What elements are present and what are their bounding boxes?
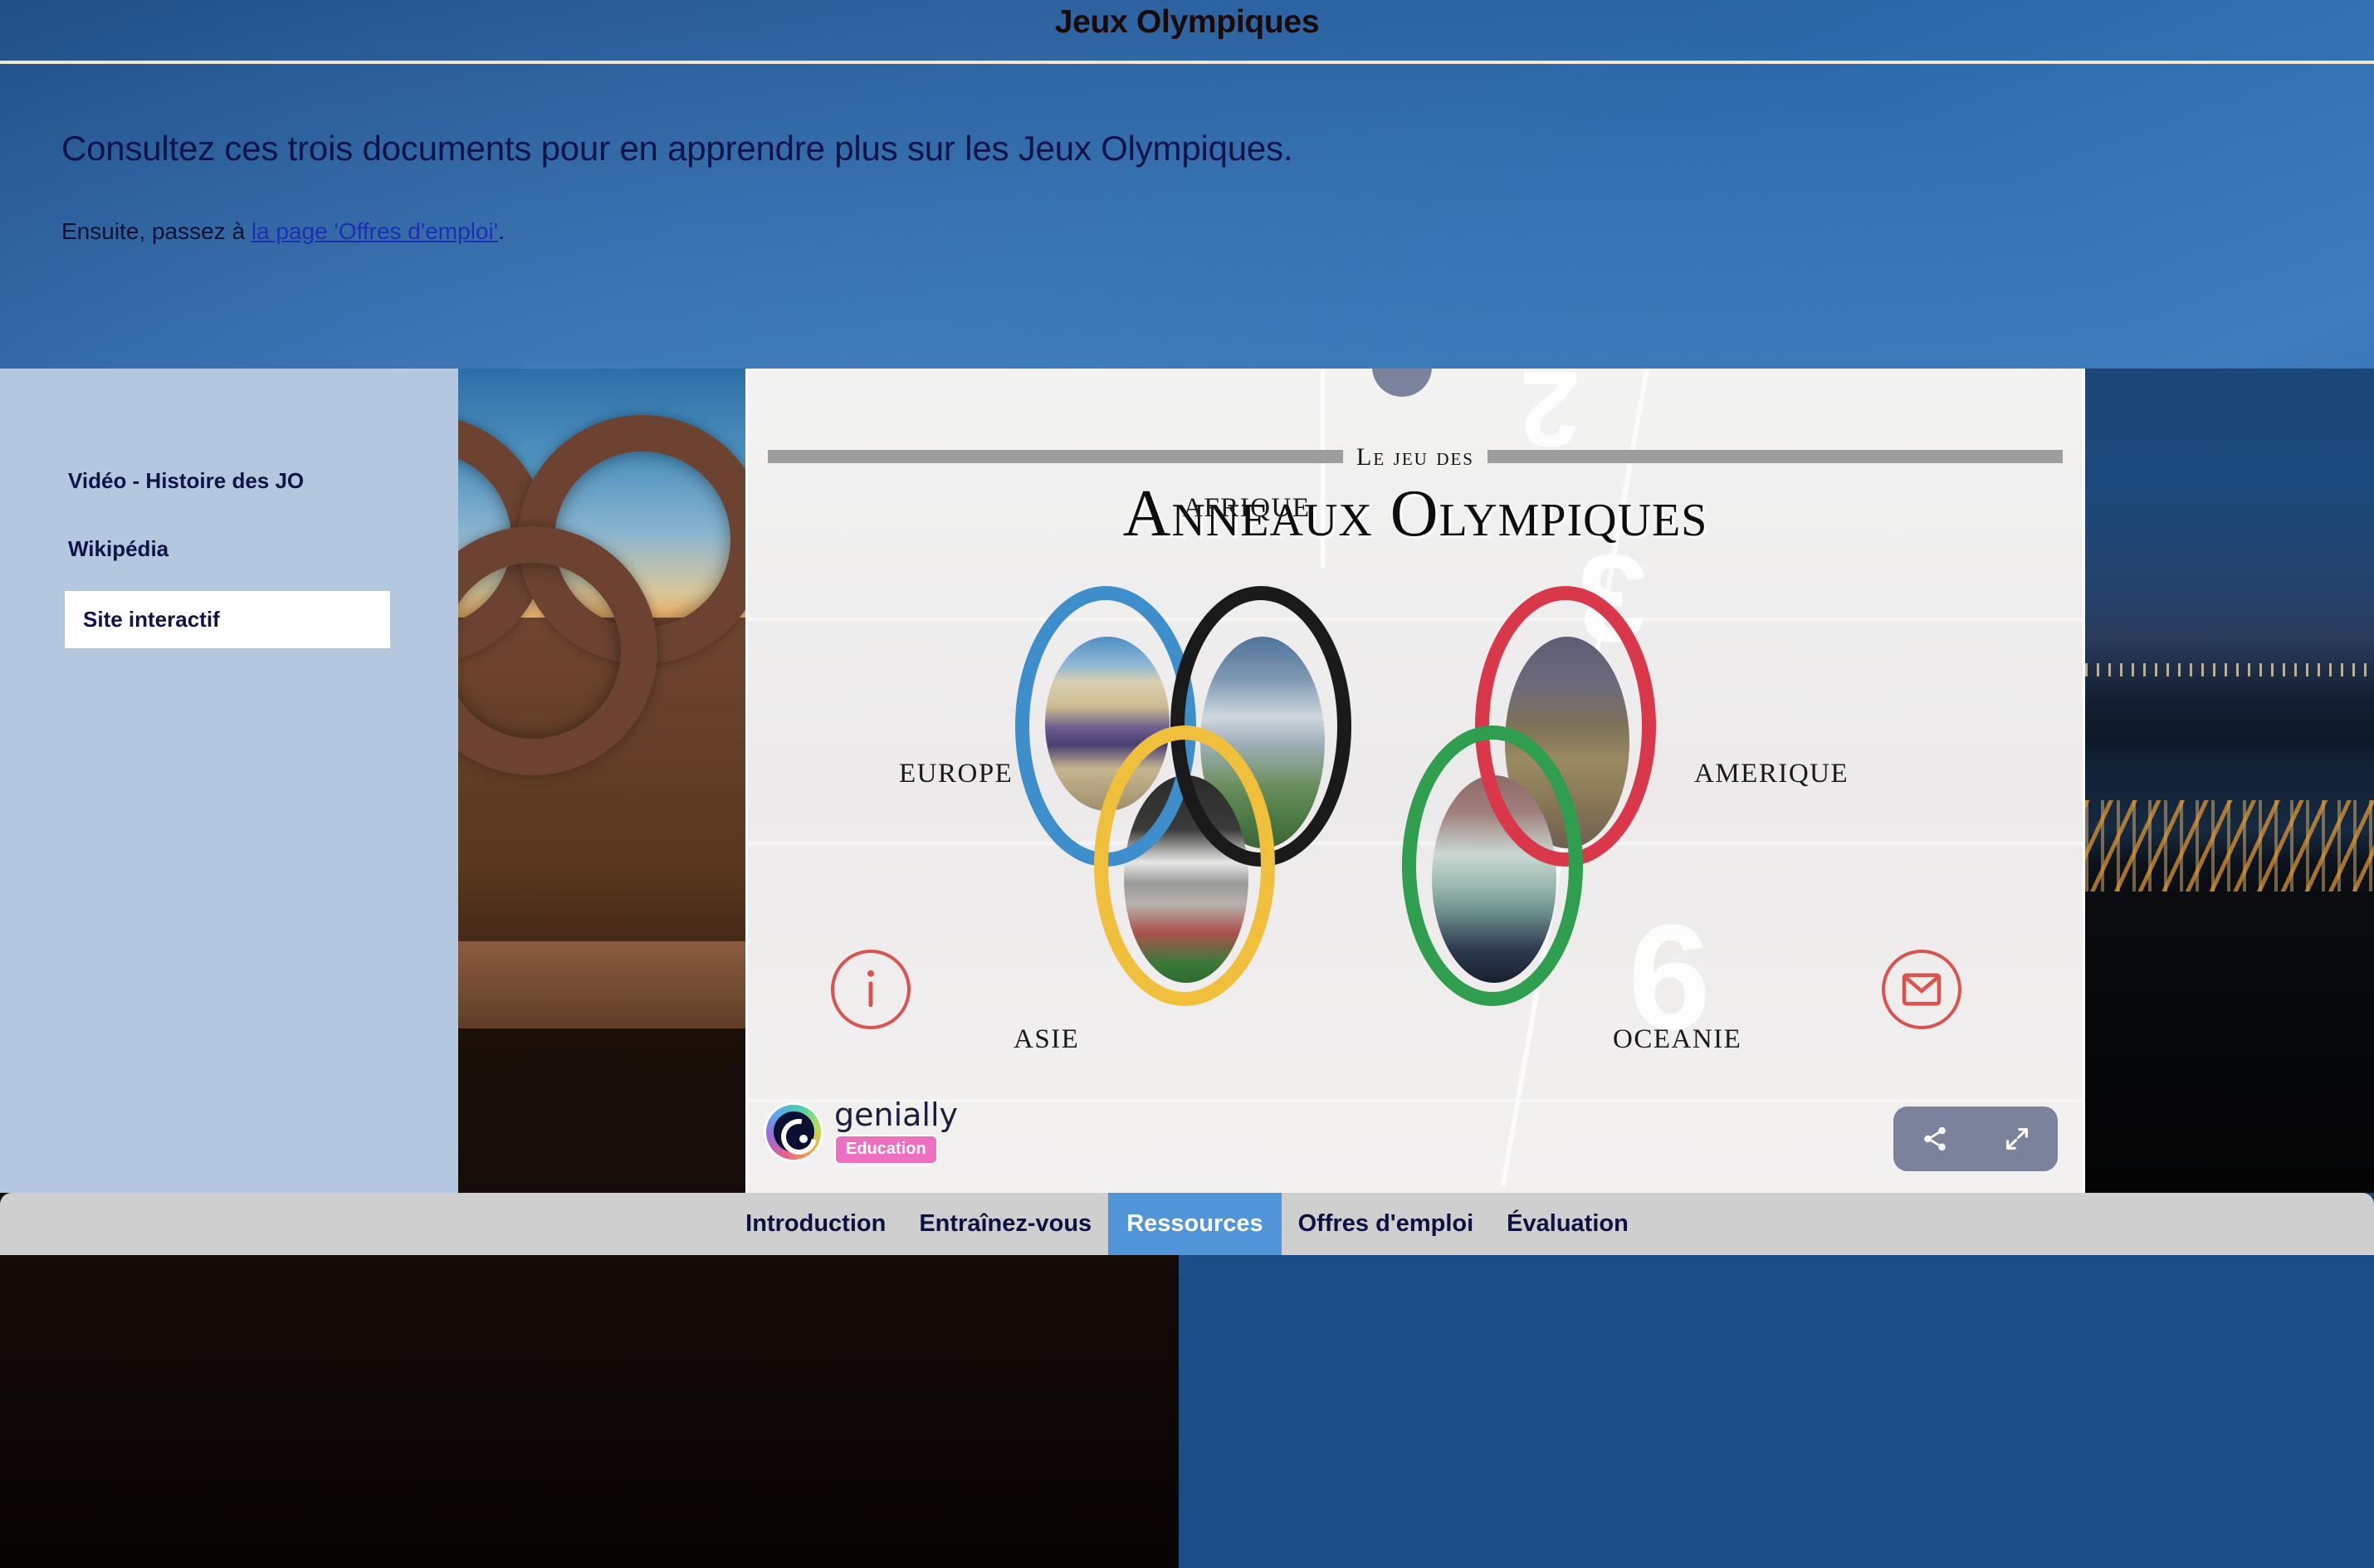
resource-links-panel: Vidéo - Histoire des JO Wikipédia Site i… [0,369,458,1193]
fullscreen-icon[interactable] [2003,1125,2031,1153]
share-icon[interactable] [1921,1125,1949,1153]
title-rule-right [1487,450,2063,463]
offres-emploi-link[interactable]: la page 'Offres d'emploi' [252,218,498,244]
genially-logo: genially Education [766,1099,958,1165]
genially-education-badge: Education [834,1135,938,1165]
info-icon[interactable] [831,950,911,1029]
bottom-navigation: Introduction Entraînez-vous Ressources O… [0,1193,2374,1255]
genially-wordmark: genially [834,1099,958,1131]
intro-instruction-prefix: Ensuite, passez à [61,218,252,244]
continent-label-europe[interactable]: EUROPE [899,759,1013,789]
genially-controls [1893,1106,2058,1171]
genially-top-round-button[interactable] [1372,369,1432,397]
tab-evaluation[interactable]: Évaluation [1490,1193,1645,1255]
olympic-ring-yellow[interactable] [1094,725,1275,1006]
page-title: Jeux Olympiques [0,4,2374,41]
tab-offres-demploi[interactable]: Offres d'emploi [1282,1193,1491,1255]
genially-title: Anneaux Olympiques [748,476,2083,552]
header-divider [0,61,2374,64]
title-rule-left [768,450,1343,463]
continent-label-oceanie[interactable]: OCEANIE [1613,1024,1741,1055]
genially-kicker: Le jeu des [1343,443,1487,471]
intro-instruction: Ensuite, passez à la page 'Offres d'empl… [61,218,505,245]
genially-embed[interactable]: 2 3 6 Le jeu des Anneaux Olympiques EURO… [745,369,2085,1193]
olympic-ring-green[interactable] [1402,725,1583,1006]
intro-instruction-suffix: . [498,218,505,244]
night-coastline-photo [2085,369,2374,1193]
continent-label-afrique[interactable]: AFRIQUE [1183,493,1311,524]
genially-logo-icon [766,1105,821,1160]
tab-introduction[interactable]: Introduction [729,1193,902,1255]
resource-link-site-interactif[interactable]: Site interactif [65,591,390,648]
tab-ressources[interactable]: Ressources [1108,1193,1281,1255]
resource-link-video[interactable]: Vidéo - Histoire des JO [68,456,443,506]
resource-link-wikipedia[interactable]: Wikipédia [68,524,443,574]
continent-label-asie[interactable]: ASIE [1014,1024,1079,1055]
slide-background: Jeux Olympiques Consultez ces trois docu… [0,0,2374,1255]
intro-heading: Consultez ces trois documents pour en ap… [61,129,1292,169]
page-header: Jeux Olympiques [0,0,2374,56]
mail-icon[interactable] [1882,950,1961,1029]
track-line-h1 [748,618,2085,621]
tab-entrainez-vous[interactable]: Entraînez-vous [902,1193,1108,1255]
genially-title-bar: Le jeu des [768,448,2063,465]
continent-label-amerique[interactable]: AMERIQUE [1694,759,1849,789]
